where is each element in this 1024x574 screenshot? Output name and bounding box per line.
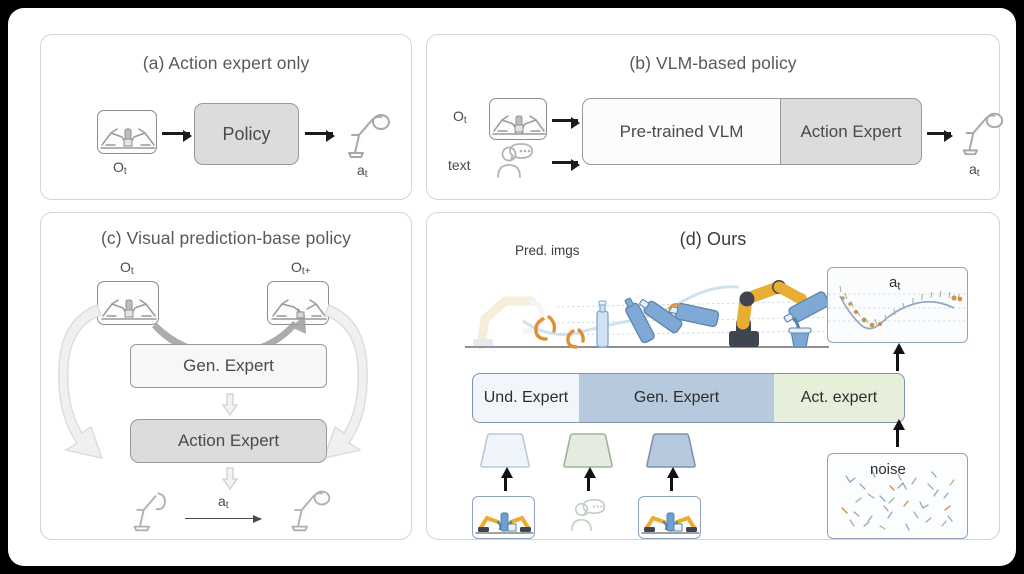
action-label-c: at (218, 493, 229, 511)
act-expert-segment: Act. expert (774, 373, 905, 423)
pretrained-vlm-label: Pre-trained VLM (620, 122, 744, 142)
arrow-gen-to-action-c (221, 394, 239, 416)
generation-encoder-trapezoid (645, 431, 697, 469)
observation-label-a: Ot (113, 159, 127, 177)
text-prompt-icon-d (567, 497, 615, 537)
panel-c-title: (c) Visual prediction-base policy (41, 228, 411, 249)
obs-current-label-c: Ot (120, 259, 134, 277)
arrow-obs-to-vlm-b (552, 119, 578, 122)
panel-d-title: (d) Ours (427, 229, 999, 250)
figure-canvas: (a) Action expert only O (8, 8, 1016, 566)
observation-label-b: Ot (453, 108, 467, 126)
noise-label: noise (870, 461, 906, 478)
arrow-transition-c (185, 518, 261, 519)
obs-current-thumbnail-c (97, 281, 159, 325)
action-expert-label-b: Action Expert (800, 122, 901, 142)
gen-expert-segment: Gen. Expert (579, 373, 774, 423)
observation-thumbnail-b (489, 98, 547, 140)
person-speech-bubble-icon (493, 141, 543, 183)
panel-ours: (d) Ours Pred. imgs (426, 212, 1000, 540)
arrow-action-to-output-c (221, 468, 239, 490)
act-expert-label: Act. expert (801, 389, 877, 407)
robot-arm-output-a (339, 109, 395, 161)
arrow-vlm-to-action-b (927, 132, 951, 135)
panel-a-title: (a) Action expert only (41, 53, 411, 74)
robot-arm-end-c (281, 486, 337, 534)
arrow-policy-to-action-a (305, 132, 333, 135)
policy-label: Policy (222, 124, 270, 145)
arrow-input-to-gen-encoder (670, 477, 673, 491)
panel-action-expert-only: (a) Action expert only O (40, 34, 412, 200)
gen-expert-box-c: Gen. Expert (130, 344, 327, 388)
und-expert-label: Und. Expert (484, 389, 568, 407)
arrow-act-expert-to-plot (896, 353, 899, 371)
arrow-input-to-text-encoder (587, 477, 590, 491)
understanding-encoder-trapezoid (479, 431, 531, 469)
panel-b-title: (b) VLM-based policy (427, 53, 999, 74)
arrow-text-to-vlm-b (552, 161, 578, 164)
obs-future-label-c: Ot+ (291, 259, 311, 277)
robot-arm-start-c (123, 486, 179, 534)
text-encoder-trapezoid (562, 431, 614, 469)
action-plot-label-d: at (889, 274, 900, 292)
arrow-obs-to-policy-a (162, 132, 190, 135)
action-expert-box-c: Action Expert (130, 419, 327, 463)
action-label-a: at (357, 162, 368, 180)
observation-thumbnail-left-d (472, 496, 535, 539)
panel-visual-prediction-policy: (c) Visual prediction-base policy Ot Ot+ (40, 212, 412, 540)
action-expert-box-b: Action Expert (780, 98, 922, 165)
obs-future-thumbnail-c (267, 281, 329, 325)
policy-box: Policy (194, 103, 299, 165)
observation-thumbnail-right-d (638, 496, 701, 539)
action-expert-label-c: Action Expert (178, 431, 279, 451)
observation-thumbnail-a (97, 110, 157, 154)
pred-imgs-label: Pred. imgs (515, 243, 580, 258)
arrow-noise-to-act-expert (896, 429, 899, 447)
text-label-b: text (448, 157, 471, 173)
arrow-input-to-und-encoder (504, 477, 507, 491)
panel-vlm-based-policy: (b) VLM-based policy Ot text (426, 34, 1000, 200)
action-label-b: at (969, 161, 980, 179)
predicted-rollout-illustration (457, 261, 837, 361)
und-expert-segment: Und. Expert (472, 373, 579, 423)
pretrained-vlm-box: Pre-trained VLM (582, 98, 780, 165)
gen-expert-label-c: Gen. Expert (183, 356, 274, 376)
gen-expert-label-d: Gen. Expert (634, 389, 719, 407)
robot-arm-output-b (954, 107, 1008, 159)
